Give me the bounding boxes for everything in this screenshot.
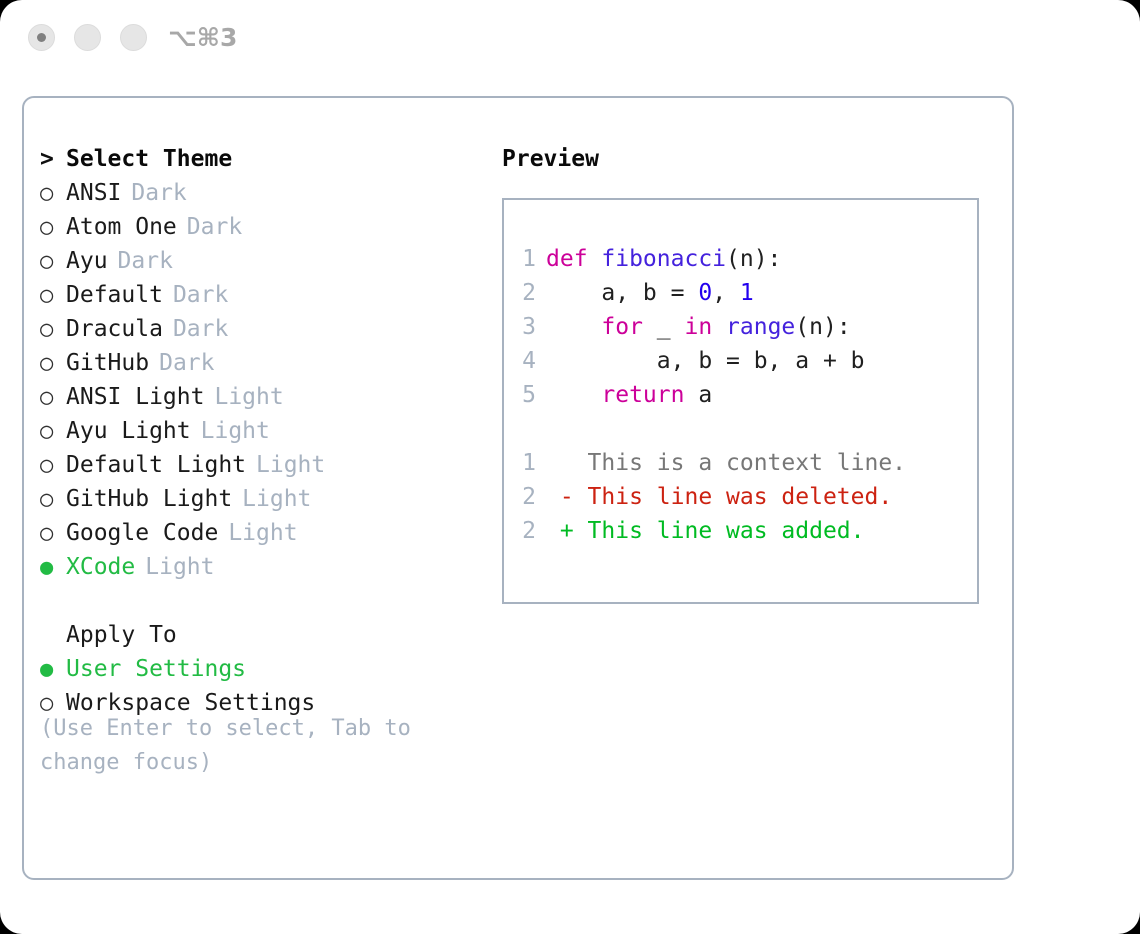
radio-unselected-icon: ○ [40,421,66,443]
code-token-kw: in [684,314,726,340]
theme-option-label: Dracula [66,316,163,342]
theme-option-github[interactable]: ○GitHubDark [40,350,490,384]
radio-unselected-icon: ○ [40,319,66,341]
preview-gap [504,416,977,450]
code-token-pl: _ [657,314,685,340]
code-token-kw: def [546,246,601,272]
radio-unselected-icon: ○ [40,455,66,477]
theme-option-ansi-light[interactable]: ○ANSI LightLight [40,384,490,418]
code-token-pl [546,382,601,408]
line-number: 2 [504,280,546,306]
theme-option-label: Google Code [66,520,218,546]
code-token-pl [546,314,601,340]
line-number: 4 [504,348,546,374]
code-token-num: 1 [740,280,754,306]
keyboard-hint-text: (Use Enter to select, Tab to change focu… [40,712,450,780]
diff-line-context: 1 This is a context line. [504,450,977,484]
code-token-kw: return [601,382,698,408]
preview-box: 1def fibonacci(n):2 a, b = 0, 13 for _ i… [502,198,979,604]
theme-option-ayu[interactable]: ○AyuDark [40,248,490,282]
line-number: 2 [504,484,546,510]
theme-option-label: XCode [66,554,135,580]
diff-line-deleted: 2 - This line was deleted. [504,484,977,518]
prompt-caret-icon: > [40,148,66,171]
hint-line-2: change focus) [40,746,450,780]
theme-variant-badge: Dark [118,248,173,274]
theme-selector-panel: > Select Theme ○ANSIDark○Atom OneDark○Ay… [22,96,1014,880]
diff-line-text: - This line was deleted. [546,484,892,510]
code-token-kw: for [601,314,656,340]
code-line: 4 a, b = b, a + b [504,348,977,382]
window-titlebar: ⌥⌘3 [0,0,1140,78]
radio-selected-icon: ● [40,659,66,681]
radio-unselected-icon: ○ [40,387,66,409]
theme-option-label: Default [66,282,163,308]
code-token-pl: a [698,382,712,408]
theme-variant-badge: Dark [187,214,242,240]
theme-option-label: GitHub Light [66,486,232,512]
code-line: 3 for _ in range(n): [504,314,977,348]
theme-option-label: Default Light [66,452,246,478]
theme-option-label: Ayu Light [66,418,191,444]
theme-option-default[interactable]: ○DefaultDark [40,282,490,316]
theme-variant-badge: Light [242,486,311,512]
code-token-pl: , [712,280,740,306]
keyboard-shortcut-label: ⌥⌘3 [168,23,237,52]
apply-to-heading: Apply To [66,622,177,648]
radio-unselected-icon: ○ [40,353,66,375]
select-theme-heading-row: > Select Theme [40,146,490,180]
code-line-text: return a [546,382,712,408]
theme-option-atom-one[interactable]: ○Atom OneDark [40,214,490,248]
line-number: 1 [504,450,546,476]
theme-option-ansi[interactable]: ○ANSIDark [40,180,490,214]
code-line-text: def fibonacci(n): [546,246,781,272]
theme-variant-badge: Light [214,384,283,410]
theme-variant-badge: Light [145,554,214,580]
apply-to-option-user-settings[interactable]: ●User Settings [40,656,490,690]
theme-option-xcode[interactable]: ●XCodeLight [40,554,490,588]
theme-variant-badge: Dark [159,350,214,376]
radio-unselected-icon: ○ [40,523,66,545]
apply-to-option-label: User Settings [66,656,246,682]
theme-option-default-light[interactable]: ○Default LightLight [40,452,490,486]
radio-selected-icon: ● [40,557,66,579]
theme-variant-badge: Dark [131,180,186,206]
radio-unselected-icon: ○ [40,251,66,273]
theme-variant-badge: Light [228,520,297,546]
theme-variant-badge: Dark [173,316,228,342]
radio-unselected-icon: ○ [40,183,66,205]
preview-title: Preview [502,146,1002,172]
line-number: 2 [504,518,546,544]
code-token-fn: fibonacci [601,246,726,272]
terminal-window: ⌥⌘3 > Select Theme ○ANSIDark○Atom OneDar… [0,0,1140,934]
theme-variant-badge: Light [256,452,325,478]
theme-option-github-light[interactable]: ○GitHub LightLight [40,486,490,520]
diff-sample: 1 This is a context line.2 - This line w… [504,450,977,552]
line-number: 1 [504,246,546,272]
apply-to-heading-row: Apply To [40,622,490,656]
theme-list-column: > Select Theme ○ANSIDark○Atom OneDark○Ay… [40,146,490,724]
code-line-text: a, b = b, a + b [546,348,865,374]
theme-option-list: ○ANSIDark○Atom OneDark○AyuDark○DefaultDa… [40,180,490,588]
theme-option-ayu-light[interactable]: ○Ayu LightLight [40,418,490,452]
theme-option-label: ANSI [66,180,121,206]
theme-option-dracula[interactable]: ○DraculaDark [40,316,490,350]
theme-option-google-code[interactable]: ○Google CodeLight [40,520,490,554]
theme-option-label: ANSI Light [66,384,204,410]
page-title: Select Theme [66,146,232,172]
traffic-light-buttons [28,24,147,51]
code-token-pl: a, b = [546,280,698,306]
code-token-pl: a, b = b, a + b [546,348,865,374]
radio-unselected-icon: ○ [40,285,66,307]
apply-to-blank-marker [40,625,66,647]
code-line: 5 return a [504,382,977,416]
code-token-fn: range [726,314,795,340]
zoom-button[interactable] [120,24,147,51]
line-number: 3 [504,314,546,340]
theme-option-label: GitHub [66,350,149,376]
code-line: 2 a, b = 0, 1 [504,280,977,314]
code-sample: 1def fibonacci(n):2 a, b = 0, 13 for _ i… [504,246,977,416]
radio-unselected-icon: ○ [40,489,66,511]
theme-option-label: Ayu [66,248,108,274]
hint-line-1: (Use Enter to select, Tab to [40,712,450,746]
minimize-button[interactable] [74,24,101,51]
theme-variant-badge: Light [201,418,270,444]
line-number: 5 [504,382,546,408]
diff-line-text: + This line was added. [546,518,865,544]
code-line-text: for _ in range(n): [546,314,851,340]
code-token-pl: (n): [726,246,781,272]
theme-variant-badge: Dark [173,282,228,308]
code-token-pl: (n): [795,314,850,340]
code-line-text: a, b = 0, 1 [546,280,754,306]
preview-column: Preview 1def fibonacci(n):2 a, b = 0, 13… [502,146,1002,604]
diff-line-text: This is a context line. [546,450,906,476]
theme-option-label: Atom One [66,214,177,240]
code-line: 1def fibonacci(n): [504,246,977,280]
diff-line-added: 2 + This line was added. [504,518,977,552]
radio-unselected-icon: ○ [40,217,66,239]
list-spacer [40,588,490,622]
code-token-num: 0 [698,280,712,306]
close-icon [37,33,46,42]
close-button[interactable] [28,24,55,51]
